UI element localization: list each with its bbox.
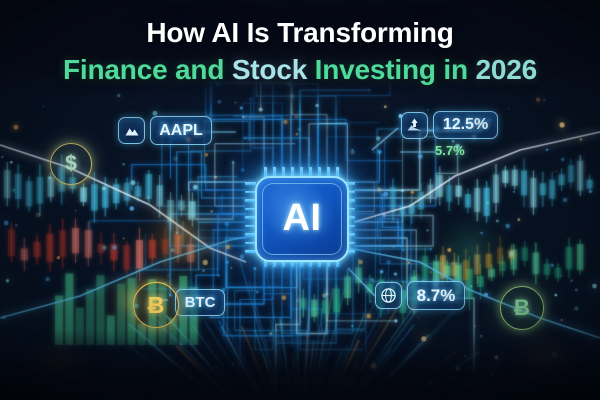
title-word-0: Finance [63,54,167,85]
hud-badge-text: 12.5% [443,116,488,134]
coin-glyph: Ƀ [148,292,165,319]
title-word-4: in [443,54,467,85]
hud-badge-pct-12-5: 12.5% [401,111,498,139]
page-title-line-1: How AI Is Transforming [0,16,600,50]
hud-badge-value-box: 8.7% [407,281,465,310]
hud-badge-value-box: BTC [175,289,225,316]
usd-coin: $ [50,143,92,185]
hud-badge-text: BTC [185,294,216,311]
chip-pin [245,182,256,185]
title-word-3: Investing [315,54,436,85]
mountain-chart-icon [118,117,145,144]
chip-label: AI [257,178,347,260]
coin-glyph: Ƀ [514,295,530,321]
coin-glyph: $ [65,152,77,176]
chip-pin [245,250,256,253]
trend-up-icon [401,112,428,139]
hero-banner: AI AAPL12.5%8.7%BTC $ɃɃ 5.7% How AI Is T… [0,0,600,400]
page-title-line-2: Finance and Stock Investing in 2026 [0,52,600,88]
hud-badge-value-box: AAPL [150,116,212,145]
ai-chip: AI [246,168,354,266]
bottom-dark-overlay [0,330,600,400]
hud-badge-pct-8-7: 8.7% [375,281,465,310]
hud-badge-aapl: AAPL [118,116,212,145]
btc-coin-left: Ƀ [133,282,179,328]
globe-icon [375,282,402,309]
hud-badge-value-box: 12.5% [433,111,498,139]
title-word-2: Stock [232,54,307,85]
hud-badge-text: AAPL [159,122,203,140]
small-percent-stat: 5.7% [435,143,465,158]
title-word-5: 2026 [475,54,537,85]
btc-coin-right: Ƀ [500,286,544,330]
hud-badge-text: 8.7% [417,286,456,306]
title-block: How AI Is Transforming Finance and Stock… [0,16,600,88]
hud-badge-btc-label: BTC [175,289,225,316]
title-word-1: and [175,54,224,85]
chip-frame: AI [255,176,349,262]
